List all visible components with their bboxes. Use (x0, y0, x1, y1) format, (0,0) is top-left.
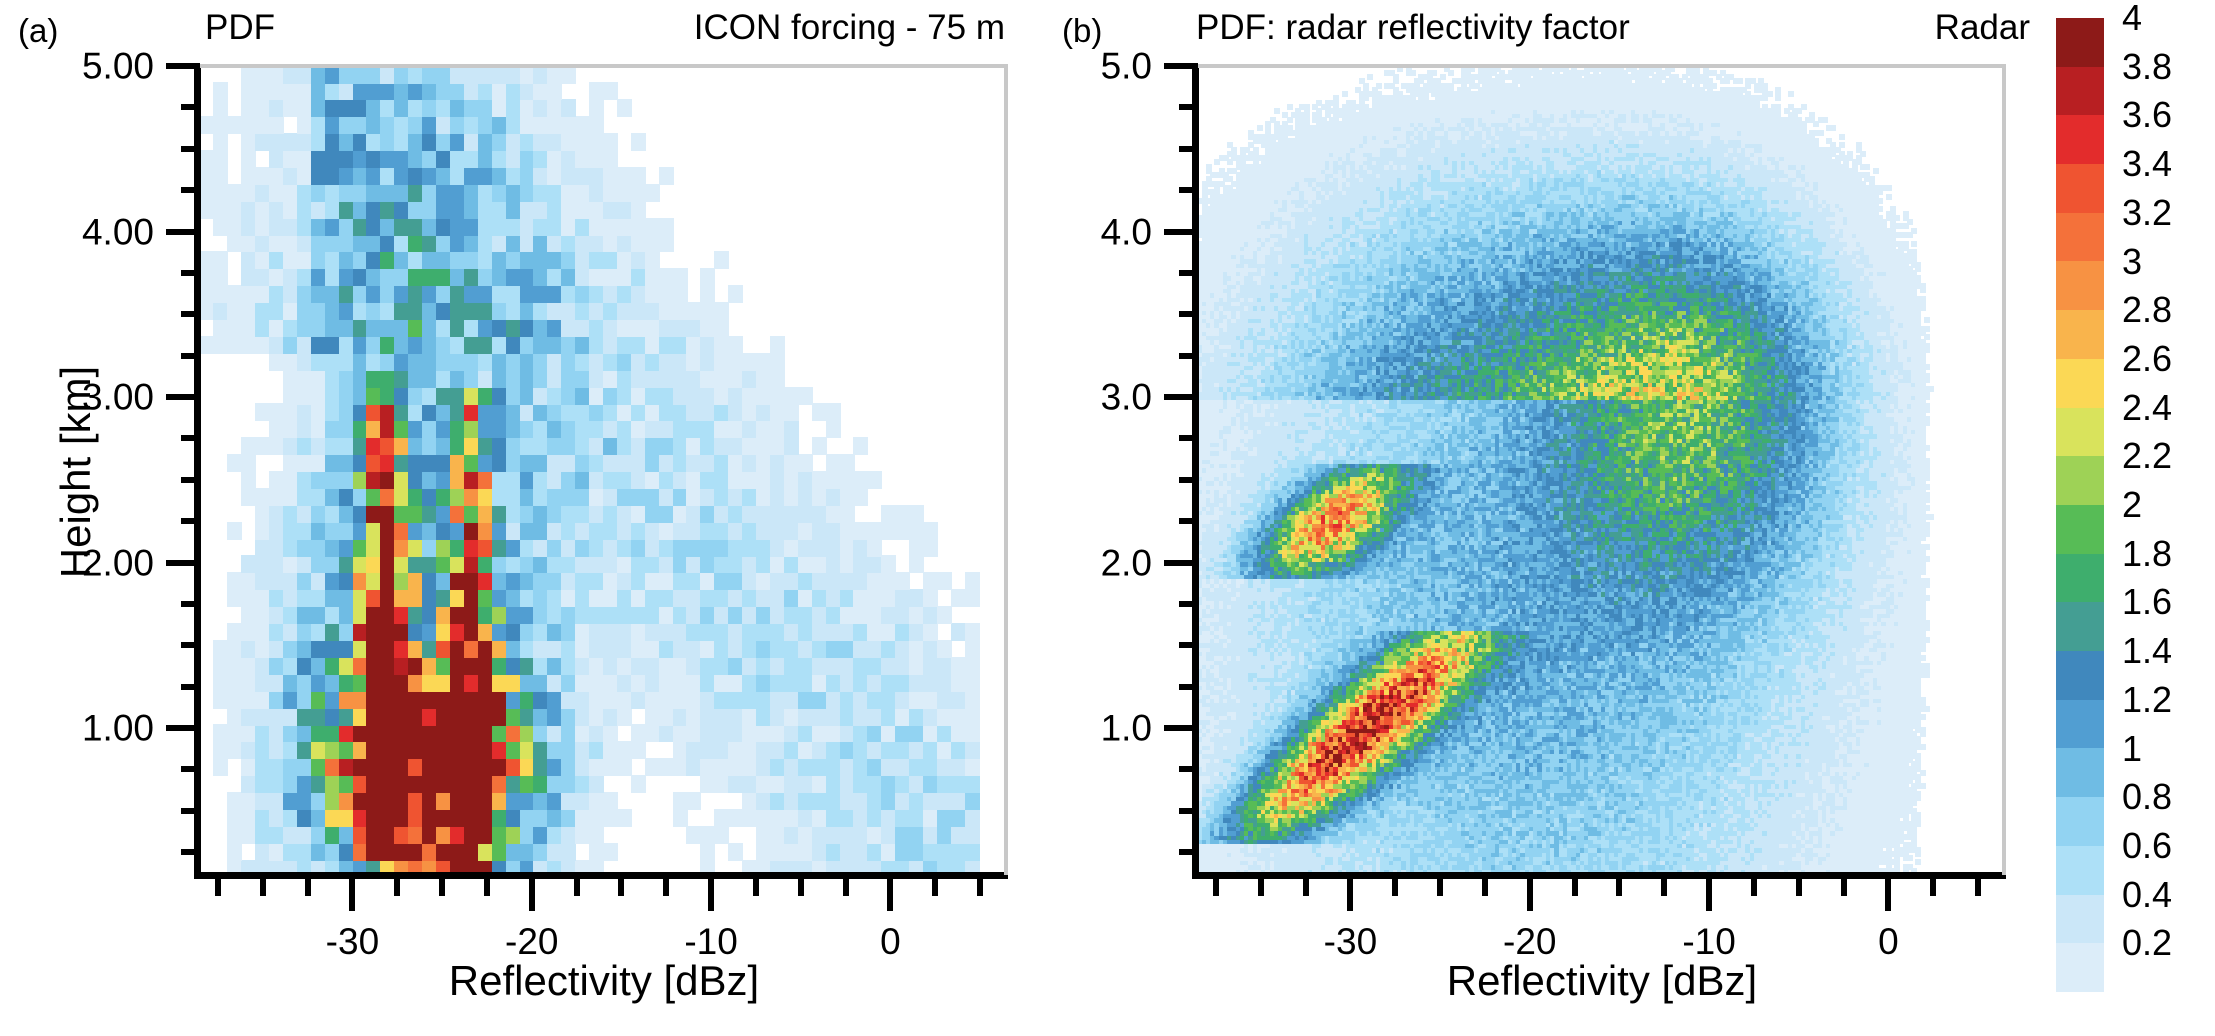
panel-b: (b) PDF: radar reflectivity factor Radar… (0, 0, 2215, 1036)
y-tick-label: 2.0 (1101, 544, 1152, 581)
colorbar-tick-label: 2.2 (2122, 438, 2172, 474)
colorbar-tick-label: 3.6 (2122, 97, 2172, 133)
y-tick-label: 3.0 (1101, 379, 1152, 416)
colorbar-tick-label: 1.6 (2122, 584, 2172, 620)
y-tick-label: 4.0 (1101, 213, 1152, 250)
colorbar-tick-label: 3.4 (2122, 146, 2172, 182)
colorbar-tick-label: 4 (2122, 0, 2142, 36)
colorbar-tick-label: 3.8 (2122, 49, 2172, 85)
colorbar-tick-label: 2 (2122, 487, 2142, 523)
y-tick-label: 5.0 (1101, 48, 1152, 85)
colorbar-tick-label: 1.8 (2122, 536, 2172, 572)
colorbar-tick-label: 2.6 (2122, 341, 2172, 377)
colorbar-tick-label: 1.2 (2122, 682, 2172, 718)
figure-root: (a) PDF ICON forcing - 75 m -30-20-1005.… (0, 0, 2215, 1036)
colorbar-tick-label: 0.4 (2122, 877, 2172, 913)
colorbar-tick-label: 1.4 (2122, 633, 2172, 669)
x-tick-label: -10 (1682, 923, 1735, 960)
colorbar-tick-label: 2.4 (2122, 390, 2172, 426)
panel-b-xlabel: Reflectivity [dBz] (1447, 960, 1757, 1002)
colorbar-tick-label: 3 (2122, 244, 2142, 280)
x-tick-label: -30 (1324, 923, 1377, 960)
colorbar-tick-label: 3.2 (2122, 195, 2172, 231)
colorbar: 0.20.40.60.811.21.41.61.822.22.42.62.833… (2056, 18, 2215, 1018)
colorbar-tick-labels: 0.20.40.60.811.21.41.61.822.22.42.62.833… (2056, 18, 2215, 1018)
colorbar-tick-label: 0.6 (2122, 828, 2172, 864)
colorbar-tick-label: 0.2 (2122, 925, 2172, 961)
y-tick-label: 1.0 (1101, 710, 1152, 747)
panel-b-tick-labels: -30-20-1005.04.03.02.01.0 (0, 0, 2215, 1036)
colorbar-tick-label: 2.8 (2122, 292, 2172, 328)
colorbar-tick-label: 1 (2122, 731, 2142, 767)
x-tick-label: -20 (1503, 923, 1556, 960)
x-tick-label: 0 (1878, 923, 1899, 960)
colorbar-tick-label: 0.8 (2122, 779, 2172, 815)
